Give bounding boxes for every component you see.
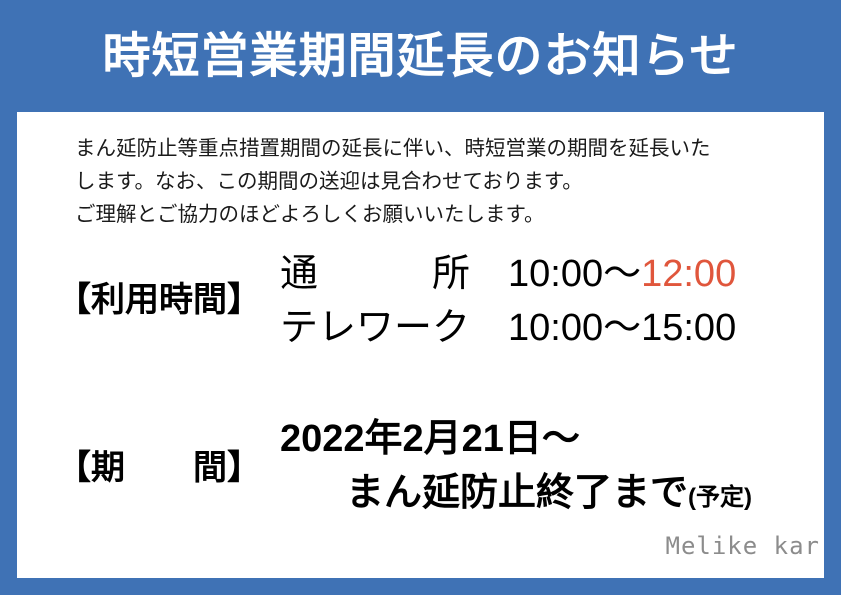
hours-line-commute: 通 所 10:00〜12:00 bbox=[262, 247, 817, 301]
hours-time-commute: 10:00〜 bbox=[470, 253, 641, 295]
period-row: 【期 間】 2022年2月21日〜 まん延防止終了まで(予定) bbox=[57, 412, 817, 525]
period-end-text: まん延防止終了まで bbox=[346, 472, 688, 514]
hours-service-telework: テレワーク bbox=[280, 307, 470, 349]
content-panel: まん延防止等重点措置期間の延長に伴い、時短営業の期間を延長いた します。なお、こ… bbox=[17, 112, 824, 578]
period-end-line: まん延防止終了まで(予定) bbox=[262, 466, 817, 525]
hours-row: 【利用時間】 通 所 10:00〜12:00 テレワーク 10:00〜15:00 bbox=[57, 247, 817, 355]
watermark: Melike kar bbox=[666, 532, 821, 560]
period-values: 2022年2月21日〜 まん延防止終了まで(予定) bbox=[262, 412, 817, 525]
hours-label: 【利用時間】 bbox=[57, 281, 262, 320]
title-banner: 時短営業期間延長のお知らせ bbox=[0, 0, 841, 112]
intro-line-2: します。なお、この期間の送迎は見合わせております。 bbox=[75, 165, 775, 198]
hours-time-commute-accent: 12:00 bbox=[641, 253, 736, 295]
intro-line-3: ご理解とご協力のほどよろしくお願いいたします。 bbox=[75, 198, 775, 231]
period-label: 【期 間】 bbox=[57, 449, 262, 488]
notice-poster: 時短営業期間延長のお知らせ まん延防止等重点措置期間の延長に伴い、時短営業の期間… bbox=[0, 0, 841, 595]
intro-line-1: まん延防止等重点措置期間の延長に伴い、時短営業の期間を延長いた bbox=[75, 132, 775, 165]
hours-values: 通 所 10:00〜12:00 テレワーク 10:00〜15:00 bbox=[262, 247, 817, 355]
page-title: 時短営業期間延長のお知らせ bbox=[102, 33, 738, 81]
hours-service-commute: 通 所 bbox=[280, 253, 470, 295]
hours-time-telework: 10:00〜15:00 bbox=[470, 307, 736, 349]
period-start-date: 2022年2月21日〜 bbox=[262, 412, 817, 466]
intro-paragraph: まん延防止等重点措置期間の延長に伴い、時短営業の期間を延長いた します。なお、こ… bbox=[75, 132, 775, 231]
hours-line-telework: テレワーク 10:00〜15:00 bbox=[262, 301, 817, 355]
period-note: (予定) bbox=[688, 484, 752, 511]
